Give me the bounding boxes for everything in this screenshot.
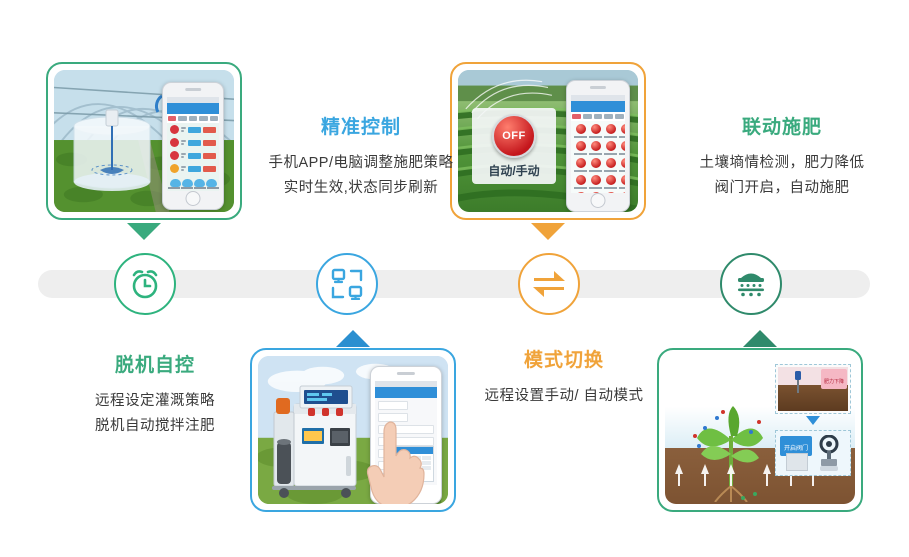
greenhouse-phone-mock	[162, 82, 224, 210]
greenhouse-photo	[54, 70, 234, 212]
connector-arrow-up-darkgreen	[743, 330, 777, 347]
tea-field-card: OFF 自动/手动	[450, 62, 646, 220]
phone-tab-bar[interactable]	[167, 114, 219, 123]
valve-label	[619, 170, 625, 172]
valve-label	[604, 170, 617, 172]
status-dot-icon	[170, 164, 179, 173]
valve-label	[574, 170, 587, 172]
valve-cell[interactable]	[604, 175, 617, 189]
valve-cell[interactable]	[604, 192, 617, 193]
mixing-tank-icon	[66, 108, 158, 200]
infographic-stage: OFF 自动/手动	[0, 0, 909, 557]
valve-label	[619, 136, 625, 138]
feature-line: 远程设置手动/ 自动模式	[466, 384, 662, 409]
fertigation-machine-icon	[268, 382, 372, 498]
status-dot-icon	[170, 125, 179, 134]
valve-cell[interactable]	[619, 192, 625, 193]
pointing-hand-icon	[364, 412, 438, 504]
phone-speaker	[397, 372, 415, 375]
sprinkler-icon	[735, 269, 767, 299]
valve-indicator-icon	[621, 175, 626, 185]
phone-app-title-bar	[571, 101, 625, 112]
valve-cell[interactable]	[619, 141, 625, 155]
valve-cell[interactable]	[589, 175, 602, 189]
weather-icon-row	[167, 175, 219, 187]
soil-sensor-panel: 肥力下降	[775, 364, 851, 414]
valve-label	[619, 153, 625, 155]
phone-app-title-bar	[167, 103, 219, 114]
form-section-header	[378, 401, 408, 410]
cloud-icon	[194, 179, 205, 187]
row-text	[181, 138, 186, 147]
alarm-clock-icon	[128, 267, 162, 301]
tea-field-photo: OFF 自动/手动	[458, 70, 638, 212]
controller-box-icon	[786, 453, 808, 471]
valve-label	[574, 153, 587, 155]
valve-label	[604, 187, 617, 189]
phone-speaker	[185, 88, 201, 91]
feature-line: 脱机自动搅拌注肥	[52, 414, 258, 439]
illustration-flow-arrow-icon	[806, 416, 820, 425]
valve-indicator-icon	[591, 124, 601, 134]
text-offline-auto-control: 脱机自控 远程设定灌溉策略 脱机自动搅拌注肥	[52, 350, 258, 440]
text-linked-fertilization: 联动施肥 土壤墒情检测，肥力降低 阀门开启，自动施肥	[668, 112, 896, 202]
valve-indicator-icon	[576, 141, 586, 151]
tea-field-phone-mock	[566, 80, 630, 212]
text-mode-switch: 模式切换 远程设置手动/ 自动模式	[466, 345, 662, 409]
valve-label	[574, 187, 587, 189]
cloud-icon	[182, 179, 193, 187]
valve-control-panel: 开启阀门	[775, 430, 851, 476]
row-chip-alt[interactable]	[203, 153, 216, 159]
row-text	[181, 151, 186, 160]
valve-indicator-icon	[576, 192, 586, 193]
valve-indicator-icon	[576, 175, 586, 185]
valve-indicator-icon	[591, 158, 601, 168]
connector-arrow-down-orange	[531, 223, 565, 240]
feature-line: 土壤墒情检测，肥力降低	[668, 151, 896, 176]
sensor-alert-label: 肥力下降	[824, 379, 844, 385]
valve-open-label: 开启阀门	[784, 446, 808, 452]
sensor-alert-bubble: 肥力下降	[821, 369, 847, 389]
soil-illustration: 肥力下降 开启阀门	[665, 356, 855, 504]
row-chip[interactable]	[188, 166, 201, 172]
phone-list-row[interactable]	[167, 123, 219, 136]
connector-arrow-up-blue	[336, 330, 370, 347]
greenhouse-card	[46, 62, 242, 220]
off-button-label: OFF	[502, 130, 526, 142]
valve-label	[574, 136, 587, 138]
valve-indicator-icon	[606, 141, 616, 151]
valve-label	[604, 136, 617, 138]
valve-cell[interactable]	[574, 158, 587, 172]
valve-indicator-icon	[591, 175, 601, 185]
feature-line: 手机APP/电脑调整施肥策略	[258, 151, 464, 176]
status-dot-icon	[170, 151, 179, 160]
row-text	[181, 125, 186, 134]
valve-cell[interactable]	[574, 141, 587, 155]
row-chip[interactable]	[188, 140, 201, 146]
valve-indicator-icon	[606, 175, 616, 185]
node-sprinkler[interactable]	[720, 253, 782, 315]
status-dot-icon	[170, 138, 179, 147]
valve-label	[589, 136, 602, 138]
valve-cell[interactable]	[604, 141, 617, 155]
valve-label	[589, 187, 602, 189]
feature-line: 实时生效,状态同步刷新	[258, 176, 464, 201]
feature-line: 阀门开启，自动施肥	[668, 176, 896, 201]
valve-indicator-icon	[606, 158, 616, 168]
valve-indicator-icon	[576, 158, 586, 168]
valve-indicator-icon	[621, 192, 626, 193]
off-button[interactable]: OFF	[492, 114, 536, 158]
valve-cell[interactable]	[589, 141, 602, 155]
valve-indicator-icon	[621, 141, 626, 151]
valve-cell[interactable]	[619, 175, 625, 189]
cloud-icon	[170, 179, 181, 187]
valve-indicator-icon	[591, 141, 601, 151]
phone-list-row[interactable]	[167, 162, 219, 175]
feature-title: 精准控制	[258, 112, 464, 139]
fertigation-machine-card	[250, 348, 456, 512]
valve-cell[interactable]	[574, 124, 587, 138]
cloud-icon	[206, 179, 217, 187]
phone-app-title-bar	[375, 387, 437, 398]
feature-line: 远程设定灌溉策略	[52, 389, 258, 414]
row-text	[181, 164, 186, 173]
valve-cell[interactable]	[574, 192, 587, 193]
feature-title: 联动施肥	[668, 112, 896, 139]
valve-indicator-icon	[606, 192, 616, 193]
valve-label	[604, 153, 617, 155]
valve-label	[589, 170, 602, 172]
phone-screen	[571, 95, 625, 193]
phone-list-row[interactable]	[167, 149, 219, 162]
valve-label	[589, 153, 602, 155]
phone-speaker	[590, 86, 606, 89]
valve-cell[interactable]	[604, 124, 617, 138]
valve-cell[interactable]	[574, 175, 587, 189]
valve-indicator-icon	[606, 124, 616, 134]
valve-grid[interactable]	[571, 121, 625, 193]
phone-home-button[interactable]	[186, 191, 201, 206]
node-exchange-arrows[interactable]	[518, 253, 580, 315]
valve-cell[interactable]	[619, 158, 625, 172]
valve-cell[interactable]	[604, 158, 617, 172]
fertigation-machine-photo	[258, 356, 448, 504]
valve-indicator-icon	[576, 124, 586, 134]
auto-manual-panel: OFF 自动/手动	[472, 108, 556, 184]
row-chip-alt[interactable]	[203, 166, 216, 172]
valve-indicator-icon	[621, 158, 626, 168]
node-alarm-clock[interactable]	[114, 253, 176, 315]
network-devices-icon	[331, 268, 363, 300]
phone-tab-bar[interactable]	[571, 112, 625, 121]
connector-arrow-down-green	[127, 223, 161, 240]
row-chip-alt[interactable]	[203, 127, 216, 133]
auto-manual-label: 自动/手动	[488, 162, 539, 179]
feature-title: 脱机自控	[52, 350, 258, 377]
valve-cell[interactable]	[619, 124, 625, 138]
valve-indicator-icon	[621, 124, 626, 134]
exchange-arrows-icon	[532, 269, 566, 299]
weather-label-row	[167, 187, 219, 189]
row-chip-alt[interactable]	[203, 140, 216, 146]
soil-probe-icon	[792, 371, 804, 393]
phone-list-row[interactable]	[167, 136, 219, 149]
phone-screen	[167, 97, 219, 191]
phone-home-button[interactable]	[591, 193, 606, 208]
row-chip[interactable]	[188, 153, 201, 159]
text-precise-control: 精准控制 手机APP/电脑调整施肥策略 实时生效,状态同步刷新	[258, 112, 464, 202]
feature-title: 模式切换	[466, 345, 662, 372]
valve-cell[interactable]	[589, 124, 602, 138]
row-chip[interactable]	[188, 127, 201, 133]
valve-cell[interactable]	[589, 158, 602, 172]
node-network-devices[interactable]	[316, 253, 378, 315]
valve-label	[619, 187, 625, 189]
valve-icon	[816, 435, 842, 473]
soil-illustration-card: 肥力下降 开启阀门	[657, 348, 863, 512]
